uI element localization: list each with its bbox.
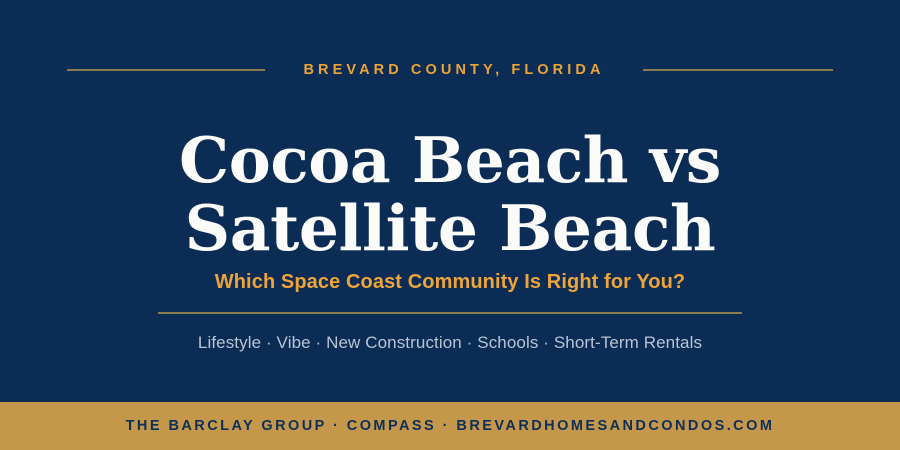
title-line-2: Satellite Beach: [0, 194, 900, 262]
eyebrow-row: BREVARD COUNTY, FLORIDA: [0, 58, 900, 82]
hero-banner: BREVARD COUNTY, FLORIDA Cocoa Beach vs S…: [0, 0, 900, 450]
title-line-1: Cocoa Beach vs: [0, 126, 900, 194]
footer-bar: THE BARCLAY GROUP · COMPASS · BREVARDHOM…: [0, 402, 900, 450]
eyebrow-label: BREVARD COUNTY, FLORIDA: [303, 63, 604, 78]
topic-tagline: Lifestyle · Vibe · New Construction · Sc…: [0, 332, 900, 354]
section-divider: [158, 312, 742, 314]
subtitle: Which Space Coast Community Is Right for…: [0, 270, 900, 294]
footer-branding: THE BARCLAY GROUP · COMPASS · BREVARDHOM…: [126, 419, 775, 434]
page-title: Cocoa Beach vs Satellite Beach: [0, 126, 900, 262]
eyebrow-rule-left: [67, 69, 265, 71]
eyebrow-rule-right: [643, 69, 833, 71]
